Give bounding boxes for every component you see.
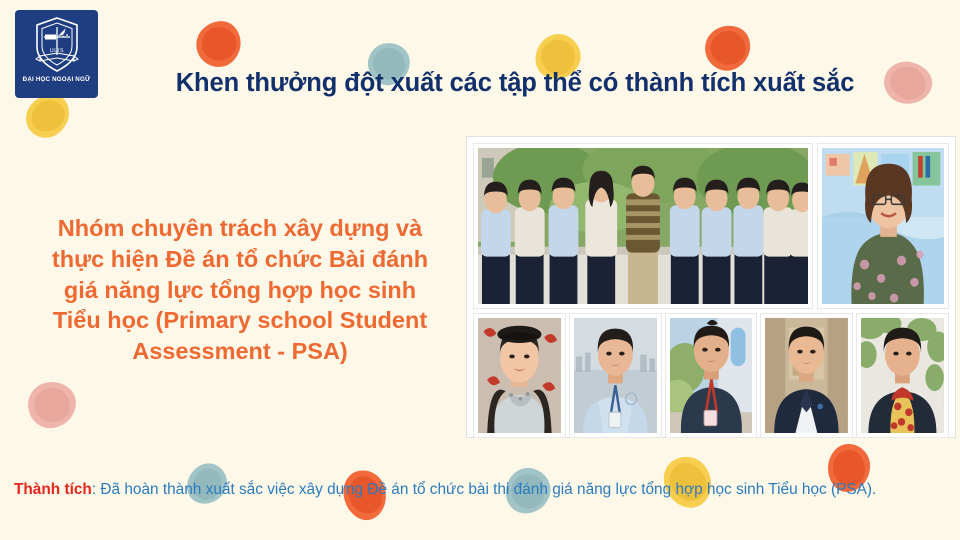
collage-row-bottom <box>473 313 949 438</box>
blob-orange-top-1-inner <box>195 20 243 68</box>
achievement-text: Đã hoàn thành xuất sắc việc xây dựng Đề … <box>96 481 876 498</box>
photo-group-team <box>473 143 813 309</box>
blob-orange-top-2-inner <box>705 26 751 71</box>
photo-portrait-1 <box>817 143 949 309</box>
blob-pink-left-inner <box>33 387 71 424</box>
achievement-label: Thành tích <box>14 481 92 498</box>
photo-portrait-3-image <box>574 318 657 433</box>
logo-caption: ĐẠI HỌC NGOẠI NGỮ <box>23 76 91 83</box>
photo-portrait-2 <box>473 313 566 438</box>
photo-group-team-image <box>478 148 808 304</box>
photo-portrait-4 <box>665 313 758 438</box>
photo-portrait-6 <box>856 313 949 438</box>
subject-line-3: Tiểu học (Primary school Student <box>10 305 470 336</box>
blob-pink-left <box>27 381 77 429</box>
photo-portrait-6-image <box>861 318 944 433</box>
subject-line-2: giá năng lực tổng hợp học sinh <box>10 275 470 306</box>
photo-portrait-5 <box>760 313 853 438</box>
photo-portrait-4-image <box>670 318 753 433</box>
page-title: Khen thưởng đột xuất các tập thể có thàn… <box>120 69 910 97</box>
ulis-logo: ULIS ĐẠI HỌC NGOẠI NGỮ <box>15 10 98 98</box>
subject-line-1: thực hiện Đề án tổ chức Bài đánh <box>10 244 470 275</box>
portrait-1-illustration <box>822 148 944 304</box>
subject-line-4: Assessment - PSA) <box>10 336 470 367</box>
group-photo-illustration <box>478 148 808 304</box>
blob-orange-top-1 <box>187 12 251 76</box>
subject-line-0: Nhóm chuyên trách xây dựng và <box>10 213 470 244</box>
photo-portrait-3 <box>569 313 662 438</box>
photo-portrait-2-image <box>478 318 561 433</box>
shield-crest-icon: ULIS <box>32 15 82 75</box>
photo-portrait-5-image <box>765 318 848 433</box>
blob-yellow-left-inner <box>25 93 71 139</box>
photo-portrait-1-image <box>822 148 944 304</box>
slide-canvas: ULIS ĐẠI HỌC NGOẠI NGỮ Khen thưởng đột x… <box>0 0 960 540</box>
team-photo-collage <box>467 137 955 437</box>
collage-row-top <box>473 143 949 309</box>
subject-paragraph: Nhóm chuyên trách xây dựng vàthực hiện Đ… <box>10 213 470 367</box>
achievement-line: Thành tích: Đã hoàn thành xuất sắc việc … <box>14 478 949 502</box>
